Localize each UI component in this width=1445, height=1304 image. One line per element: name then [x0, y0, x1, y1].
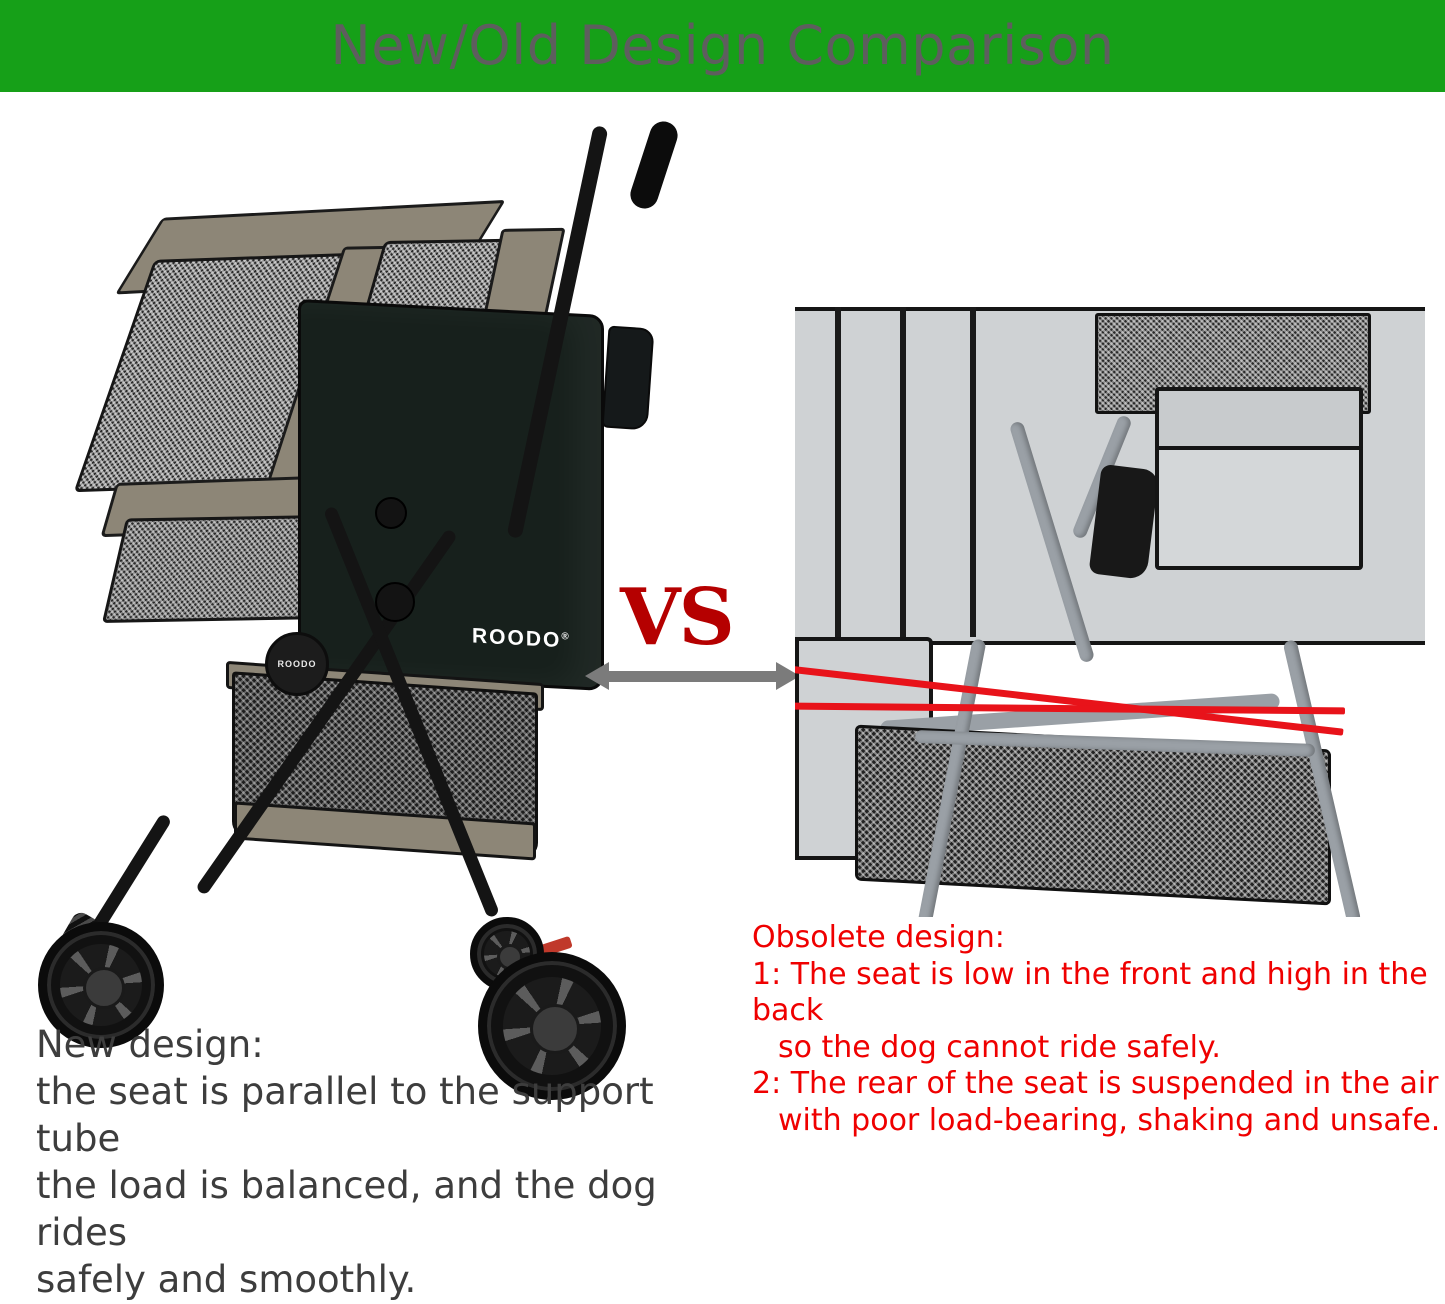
new-design-caption: New design: the seat is parallel to the … — [36, 1022, 736, 1304]
new-design-caption-line-2: the load is balanced, and the dog rides — [36, 1163, 736, 1257]
old-body-stripe-3 — [970, 307, 976, 637]
obsolete-design-caption: Obsolete design: 1: The seat is low in t… — [752, 920, 1442, 1140]
obsolete-caption-heading: Obsolete design: — [752, 920, 1442, 957]
obsolete-design-product-image — [795, 307, 1425, 917]
obsolete-caption-point-1b: so the dog cannot ride safely. — [752, 1030, 1442, 1067]
new-design-caption-line-1: the seat is parallel to the support tube — [36, 1069, 736, 1163]
double-headed-arrow-icon — [585, 662, 800, 690]
arrow-shaft — [607, 671, 778, 682]
arrow-head-left — [585, 662, 609, 690]
new-design-caption-line-3: safely and smoothly. — [36, 1257, 736, 1304]
obsolete-caption-point-2: 2: The rear of the seat is suspended in … — [752, 1066, 1442, 1103]
comparison-stage: ROODO ROODO® VS — [0, 92, 1445, 1304]
old-body-stripe-2 — [900, 307, 906, 637]
old-body-stripe-1 — [835, 307, 841, 637]
brand-badge: ROODO — [265, 632, 329, 696]
new-design-caption-heading: New design: — [36, 1022, 736, 1069]
brand-logo-text: ROODO — [472, 624, 561, 652]
brand-logo: ROODO® — [472, 624, 571, 653]
old-side-pocket-flap — [1155, 387, 1363, 450]
new-design-product-image: ROODO ROODO® — [20, 112, 660, 1042]
handle-grip — [627, 118, 681, 212]
vs-label: VS — [620, 572, 733, 663]
frame-pivot-joint — [375, 582, 415, 622]
brand-registered-mark: ® — [561, 631, 570, 642]
header-banner: New/Old Design Comparison — [0, 0, 1445, 92]
obsolete-caption-point-2b: with poor load-bearing, shaking and unsa… — [752, 1103, 1442, 1140]
cabin-side-pocket — [601, 326, 654, 431]
obsolete-caption-point-1: 1: The seat is low in the front and high… — [752, 957, 1442, 1030]
frame-upper-joint — [375, 497, 407, 529]
page-title: New/Old Design Comparison — [330, 19, 1114, 73]
